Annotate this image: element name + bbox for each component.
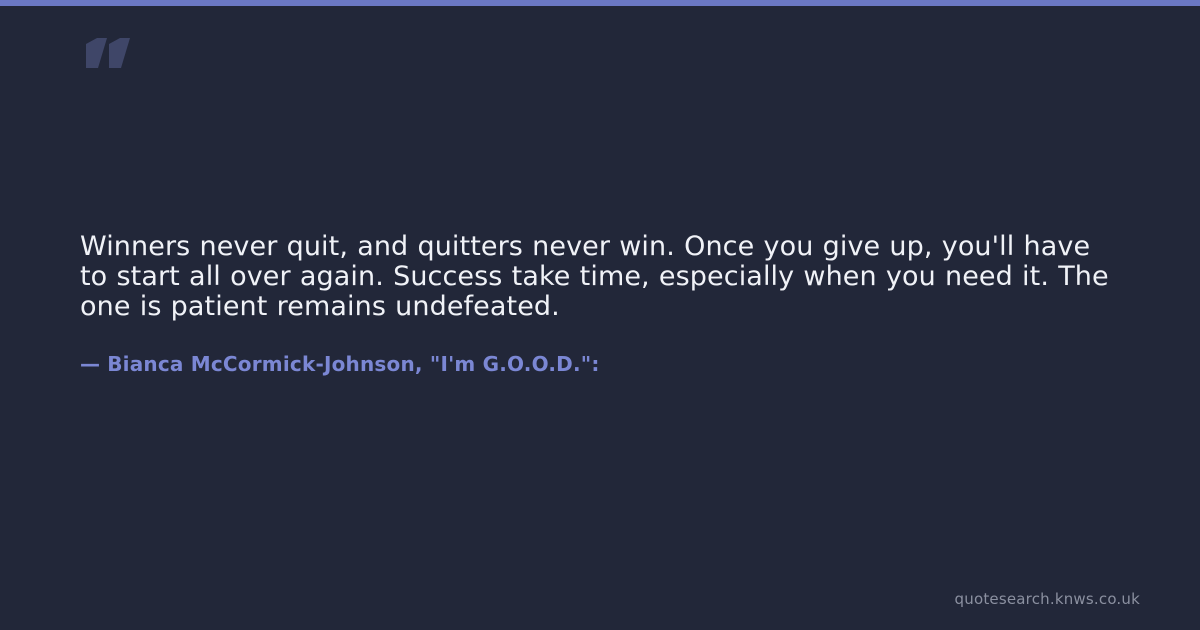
quote-body: Winners never quit, and quitters never w…	[80, 232, 1110, 377]
attribution-dash: —	[80, 352, 100, 376]
source-url: quotesearch.knws.co.uk	[955, 590, 1140, 608]
attribution-author: Bianca McCormick-Johnson, "I'm G.O.O.D."…	[107, 352, 599, 376]
quote-attribution: —Bianca McCormick-Johnson, "I'm G.O.O.D.…	[80, 322, 1110, 377]
quote-text: Winners never quit, and quitters never w…	[80, 232, 1110, 322]
top-accent-bar	[0, 0, 1200, 6]
double-quote-icon	[80, 30, 140, 80]
quote-card: Winners never quit, and quitters never w…	[0, 0, 1200, 630]
